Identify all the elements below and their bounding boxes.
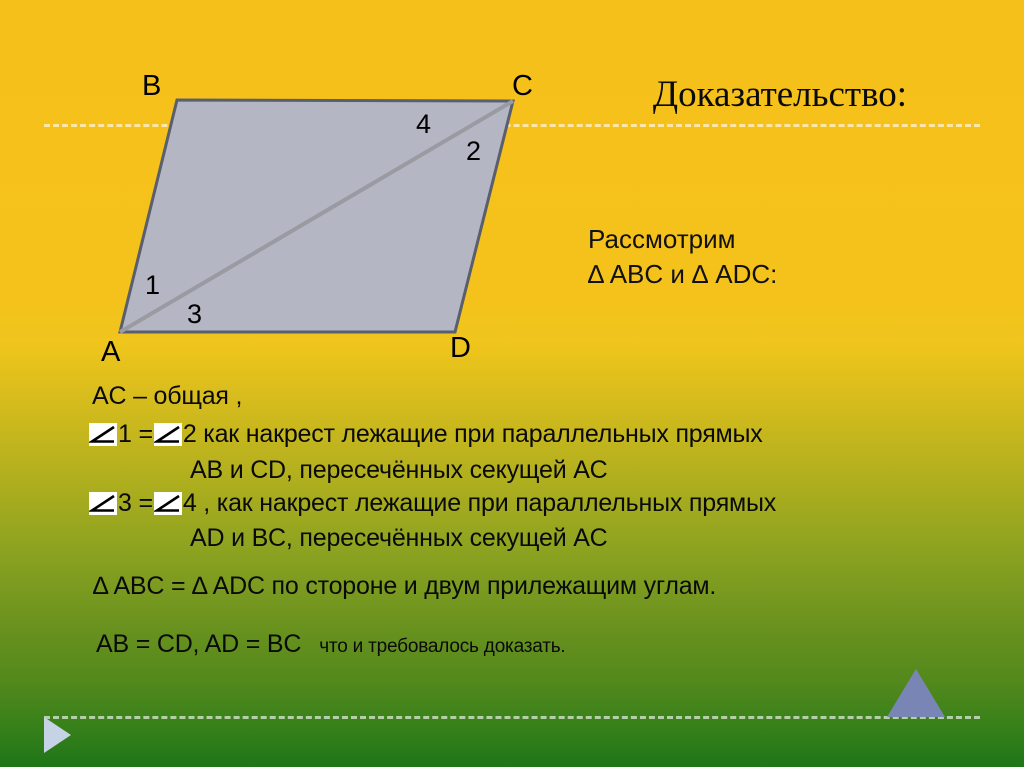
vertex-label-d: D (450, 334, 471, 363)
proof-conclusion: ∆ ABC = ∆ ADC по стороне и двум прилежащ… (93, 572, 716, 601)
angle-icon (154, 492, 182, 515)
proof-statement-1-sub: AB и CD, пересечённых секущей AC (190, 456, 608, 485)
angle-label-2: 2 (466, 138, 481, 165)
proof-statement-1-a: 1 = (118, 420, 153, 448)
proof-qed: что и требовалось доказать. (319, 636, 565, 657)
proof-common-side: AC – общая , (92, 382, 242, 411)
proof-statement-1-b: 2 как накрест лежащие при параллельных п… (183, 420, 763, 448)
vertex-label-b: B (142, 72, 161, 101)
decorative-triangle-icon (887, 669, 945, 717)
proof-statement-1: 1 = 2 как накрест лежащие при параллельн… (88, 420, 763, 449)
angle-icon (154, 423, 182, 446)
vertex-label-c: C (512, 72, 533, 101)
consider-block: Рассмотрим ∆ ABC и ∆ ADC: (588, 222, 777, 292)
parallelogram-figure (0, 0, 1024, 400)
vertex-label-a: A (101, 338, 120, 367)
proof-statement-2: 3 = 4 , как накрест лежащие при параллел… (88, 489, 776, 518)
consider-heading: Рассмотрим (588, 222, 777, 257)
next-slide-arrow-icon[interactable] (44, 717, 71, 753)
dashed-rule-bottom (44, 716, 980, 719)
angle-label-4: 4 (416, 111, 431, 138)
angle-label-3: 3 (187, 301, 202, 328)
proof-statement-2-b: 4 , как накрест лежащие при параллельных… (183, 489, 776, 517)
slide-canvas: B C D A 1 2 3 4 Доказательство: Рассмотр… (0, 0, 1024, 767)
angle-icon (89, 423, 117, 446)
consider-triangles: ∆ ABC и ∆ ADC: (588, 257, 777, 292)
page-title: Доказательство: (560, 76, 1000, 115)
proof-result-line: AB = CD, AD = BCчто и требовалось доказа… (96, 630, 566, 659)
proof-statement-2-a: 3 = (118, 489, 153, 517)
angle-icon (89, 492, 117, 515)
proof-statement-2-sub: AD и BC, пересечённых секущей AC (190, 524, 608, 553)
angle-label-1: 1 (145, 272, 160, 299)
proof-result: AB = CD, AD = BC (96, 630, 301, 658)
